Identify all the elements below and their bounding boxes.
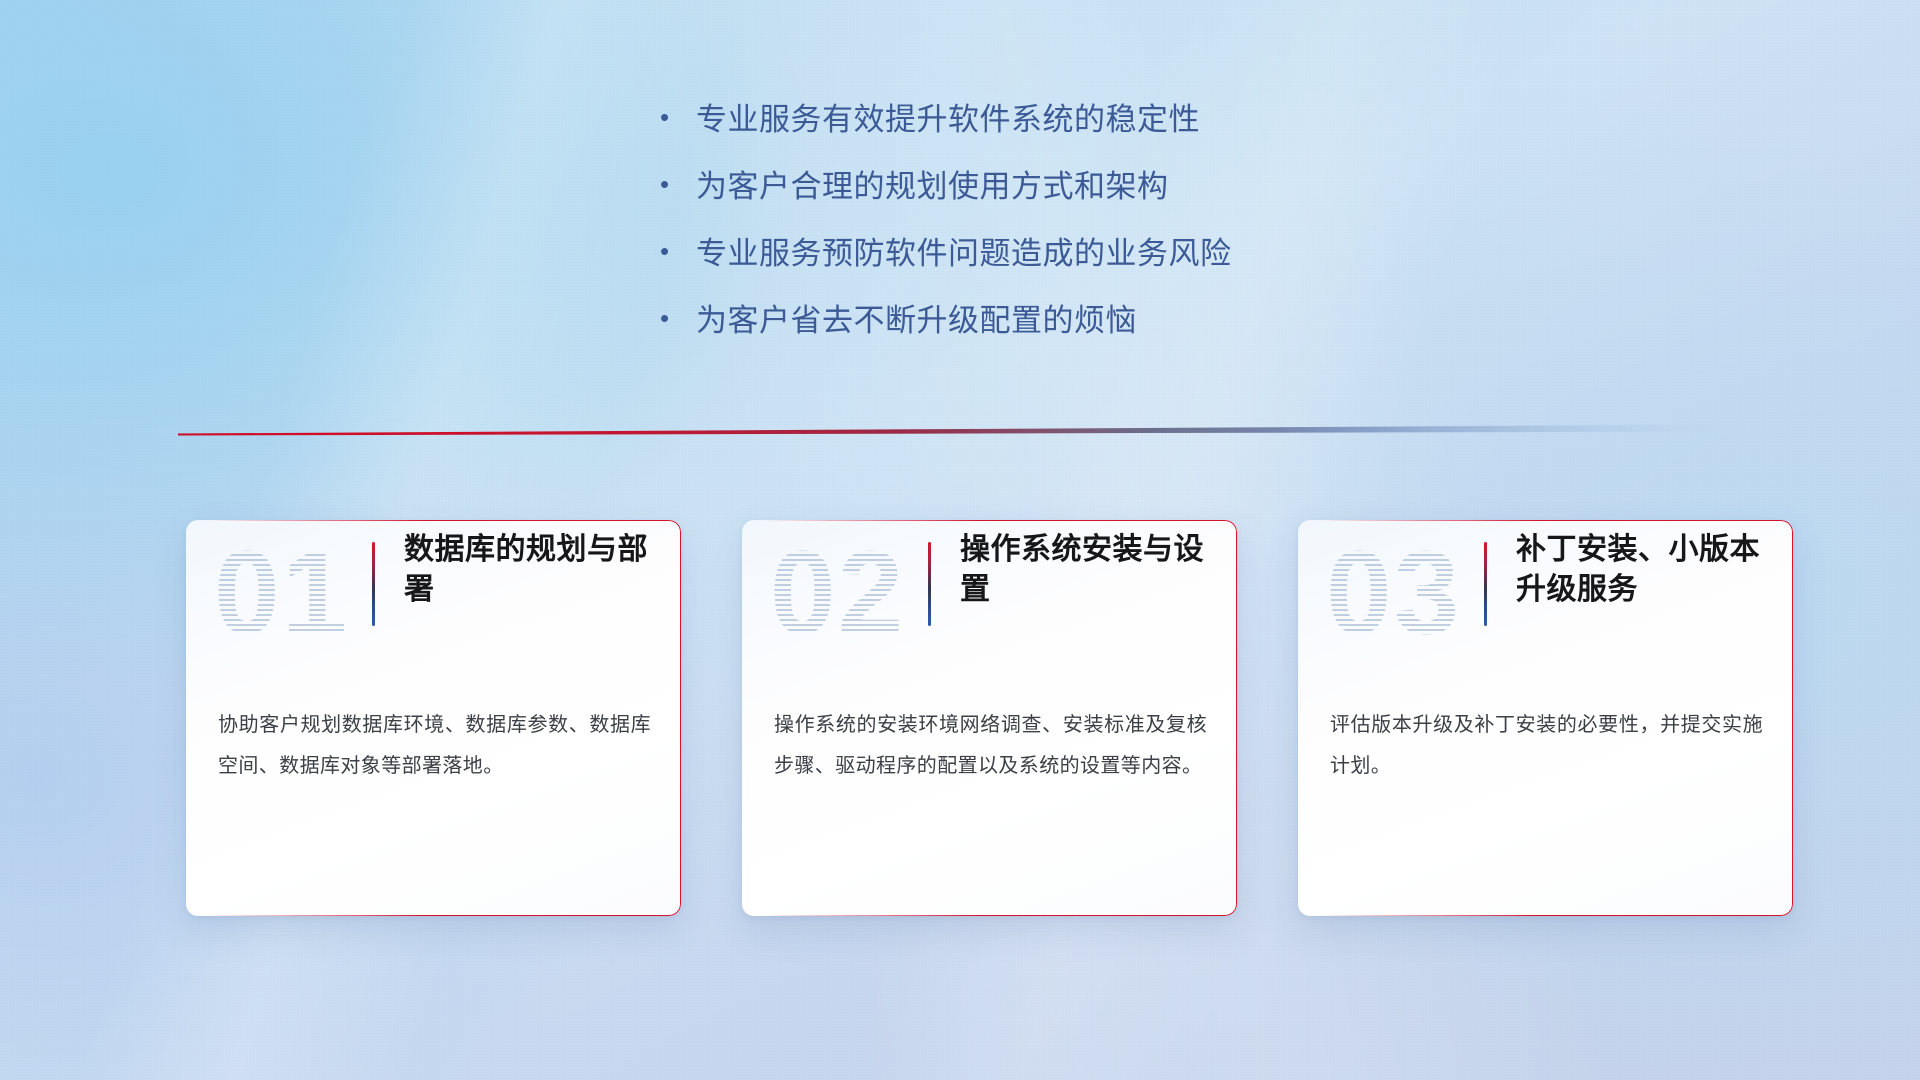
card-header: 01 数据库的规划与部署 (186, 520, 681, 670)
bullet-marker-icon: • (660, 301, 696, 335)
bullet-text: 专业服务预防软件问题造成的业务风险 (696, 234, 1420, 275)
bullet-text: 为客户省去不断升级配置的烦恼 (696, 301, 1420, 342)
bullet-text: 专业服务有效提升软件系统的稳定性 (696, 100, 1420, 141)
bullet-text: 为客户合理的规划使用方式和架构 (696, 167, 1420, 208)
list-item: • 为客户省去不断升级配置的烦恼 (660, 301, 1420, 342)
service-card[interactable]: 01 数据库的规划与部署 协助客户规划数据库环境、数据库参数、数据库空间、数据库… (186, 520, 681, 916)
card-number-ghost: 03 (1326, 534, 1461, 652)
service-card[interactable]: 03 补丁安装、小版本升级服务 评估版本升级及补丁安装的必要性，并提交实施计划。 (1298, 520, 1793, 916)
list-item: • 为客户合理的规划使用方式和架构 (660, 167, 1420, 208)
card-title-divider-icon (1484, 542, 1487, 626)
bullet-marker-icon: • (660, 167, 696, 201)
card-title: 补丁安装、小版本升级服务 (1516, 530, 1766, 610)
card-title: 数据库的规划与部署 (404, 530, 654, 610)
list-item: • 专业服务有效提升软件系统的稳定性 (660, 100, 1420, 141)
benefits-bullet-list: • 专业服务有效提升软件系统的稳定性 • 为客户合理的规划使用方式和架构 • 专… (660, 100, 1420, 368)
card-title: 操作系统安装与设置 (960, 530, 1210, 610)
card-number-ghost: 02 (770, 534, 905, 652)
card-title-divider-icon (928, 542, 931, 626)
card-description: 评估版本升级及补丁安装的必要性，并提交实施计划。 (1330, 705, 1763, 787)
card-number-text: 03 (1326, 534, 1461, 652)
list-item: • 专业服务预防软件问题造成的业务风险 (660, 234, 1420, 275)
card-header: 03 补丁安装、小版本升级服务 (1298, 520, 1793, 670)
service-card[interactable]: 02 操作系统安装与设置 操作系统的安装环境网络调查、安装标准及复核步骤、驱动程… (742, 520, 1237, 916)
card-title-divider-icon (372, 542, 375, 626)
section-divider (178, 420, 1750, 440)
card-description: 操作系统的安装环境网络调查、安装标准及复核步骤、驱动程序的配置以及系统的设置等内… (774, 705, 1207, 787)
card-number-text: 01 (214, 534, 349, 652)
slide-canvas: • 专业服务有效提升软件系统的稳定性 • 为客户合理的规划使用方式和架构 • 专… (0, 0, 1920, 1080)
card-number-ghost: 01 (214, 534, 349, 652)
bullet-marker-icon: • (660, 234, 696, 268)
card-number-text: 02 (770, 534, 905, 652)
card-description: 协助客户规划数据库环境、数据库参数、数据库空间、数据库对象等部署落地。 (218, 705, 651, 787)
service-card-group: 01 数据库的规划与部署 协助客户规划数据库环境、数据库参数、数据库空间、数据库… (0, 520, 1920, 940)
bullet-marker-icon: • (660, 100, 696, 134)
card-header: 02 操作系统安装与设置 (742, 520, 1237, 670)
